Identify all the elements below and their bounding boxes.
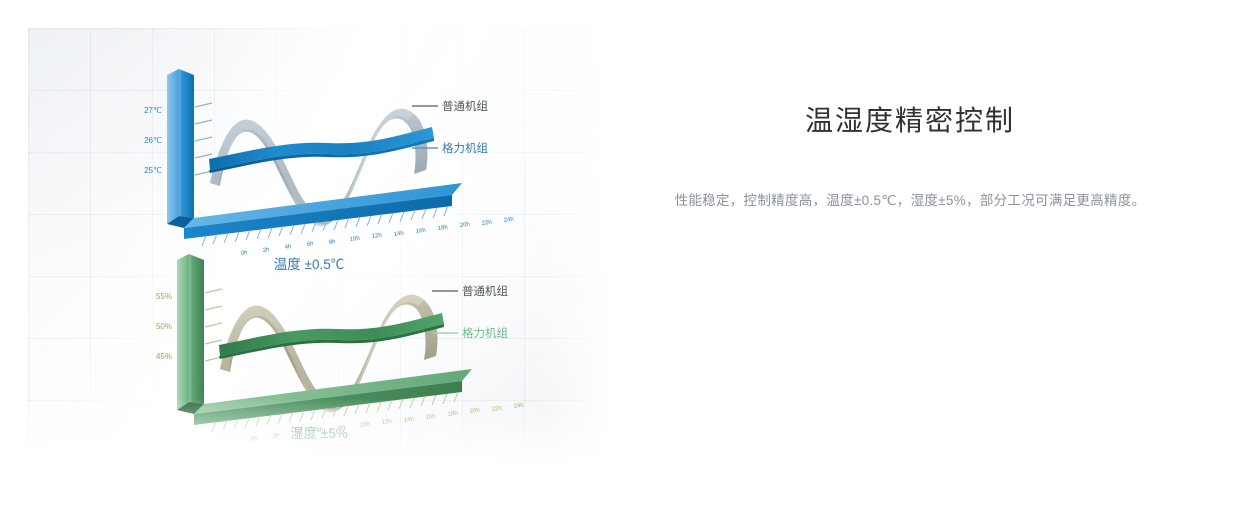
- ytick-label: 55%: [156, 292, 172, 301]
- xtick-label: 14h: [403, 417, 414, 424]
- legend-label: 格力机组: [442, 141, 488, 155]
- illustration-panel: 27℃ 26℃ 25℃: [28, 28, 618, 472]
- xtick-label: 0h: [240, 250, 247, 257]
- temperature-y-ticks: [195, 103, 212, 175]
- ytick-label: 25℃: [144, 166, 162, 175]
- text-column: 温湿度精密控制 性能稳定，控制精度高，温度±0.5℃，湿度±5%，部分工况可满足…: [636, 0, 1236, 528]
- xtick-label: 16h: [415, 228, 426, 235]
- xtick-label: 16h: [425, 414, 436, 421]
- legend-item-ordinary: 普通机组: [432, 284, 508, 298]
- ytick-label: 45%: [156, 352, 172, 361]
- xtick-label: 22h: [481, 220, 492, 227]
- ytick-label: 27℃: [144, 106, 162, 115]
- xtick-label: 18h: [437, 225, 448, 232]
- temperature-series-gree: [209, 127, 434, 173]
- temperature-y-axis: [167, 69, 194, 228]
- xtick-label: 20h: [459, 222, 470, 229]
- xtick-label: 12h: [371, 233, 382, 240]
- xtick-label: 14h: [393, 231, 404, 238]
- xtick-label: 22h: [491, 406, 502, 413]
- xtick-label: 12h: [381, 419, 392, 426]
- humidity-y-ticks: [205, 289, 222, 361]
- temperature-chart-caption: 温度 ±0.5℃: [274, 257, 344, 272]
- temperature-chart: 27℃ 26℃ 25℃: [144, 69, 514, 272]
- legend-label: 格力机组: [462, 326, 508, 340]
- legend-item-ordinary: 普通机组: [412, 99, 488, 113]
- legend-item-gree: 格力机组: [432, 326, 508, 340]
- humidity-chart: 55% 50% 45%: [156, 254, 524, 443]
- charts-illustration: 27℃ 26℃ 25℃: [28, 28, 618, 472]
- xtick-label: 10h: [359, 422, 370, 429]
- page-title: 温湿度精密控制: [636, 101, 1184, 141]
- temperature-y-tick-labels: 27℃ 26℃ 25℃: [144, 106, 162, 175]
- humidity-y-tick-labels: 55% 50% 45%: [156, 292, 172, 361]
- xtick-label: 10h: [349, 236, 360, 243]
- xtick-label: 0h: [250, 436, 257, 443]
- xtick-label: 2h: [262, 247, 269, 254]
- humidity-legend: 普通机组 格力机组: [432, 284, 508, 340]
- legend-label: 普通机组: [442, 99, 488, 113]
- xtick-label: 24h: [503, 217, 514, 224]
- xtick-label: 4h: [284, 244, 291, 251]
- ytick-label: 50%: [156, 322, 172, 331]
- legend-label: 普通机组: [462, 284, 508, 298]
- humidity-series-gree: [219, 313, 444, 359]
- humidity-y-axis: [177, 254, 204, 414]
- xtick-label: 8h: [328, 239, 335, 246]
- xtick-label: 24h: [513, 403, 524, 410]
- xtick-label: 18h: [447, 411, 458, 418]
- xtick-label: 20h: [469, 408, 480, 415]
- page-subtitle: 性能稳定，控制精度高，温度±0.5℃，湿度±5%，部分工况可满足更高精度。: [636, 190, 1184, 212]
- xtick-label: 2h: [272, 433, 279, 440]
- ytick-label: 26℃: [144, 136, 162, 145]
- xtick-label: 6h: [306, 241, 313, 248]
- page-root: 27℃ 26℃ 25℃: [0, 0, 1260, 528]
- humidity-chart-caption: 湿度 ±5%: [290, 426, 348, 441]
